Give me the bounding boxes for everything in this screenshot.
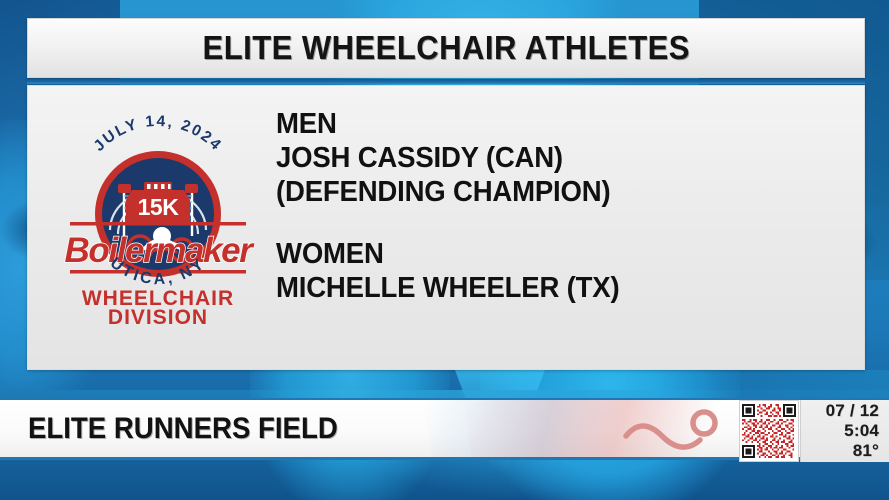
title-separator-rule — [27, 79, 865, 84]
elite-athletes-panel: JULY 14, 2024 — [27, 85, 865, 370]
clock-weather-badge: 07 / 12 5:04 81° — [800, 400, 889, 462]
mens-category-heading: MEN — [276, 108, 619, 142]
boilermaker-logo: JULY 14, 2024 — [58, 96, 258, 326]
logo-distance-label: 15K — [138, 194, 180, 220]
wave-circle-logo-icon — [622, 406, 734, 456]
qr-code-icon — [742, 404, 796, 458]
current-temperature: 81° — [853, 441, 879, 461]
athlete-list: MEN JOSH CASSIDY (CAN) (DEFENDING CHAMPI… — [276, 108, 638, 306]
current-date: 07 / 12 — [826, 401, 879, 421]
mens-athlete-note: (DEFENDING CHAMPION) — [276, 176, 619, 210]
logo-date-arc: JULY 14, 2024 — [91, 113, 226, 155]
womens-athlete-name: MICHELLE WHEELER (TX) — [276, 272, 619, 306]
logo-wordmark: Boilermaker — [65, 231, 256, 270]
mens-athlete-name: JOSH CASSIDY (CAN) — [276, 142, 619, 176]
graphic-title-panel: ELITE WHEELCHAIR ATHLETES — [27, 18, 865, 78]
lower-third-headline: ELITE RUNNERS FIELD — [28, 412, 338, 446]
page-title: ELITE WHEELCHAIR ATHLETES — [202, 29, 689, 67]
boilermaker-15k-icon: JULY 14, 2024 — [58, 96, 258, 326]
current-time: 5:04 — [844, 421, 879, 441]
logo-division-line-2: DIVISION — [108, 306, 208, 326]
qr-code-badge[interactable] — [739, 400, 799, 462]
womens-category-heading: WOMEN — [276, 238, 619, 272]
category-spacer — [276, 210, 638, 238]
svg-text:JULY 14, 2024: JULY 14, 2024 — [91, 113, 226, 155]
